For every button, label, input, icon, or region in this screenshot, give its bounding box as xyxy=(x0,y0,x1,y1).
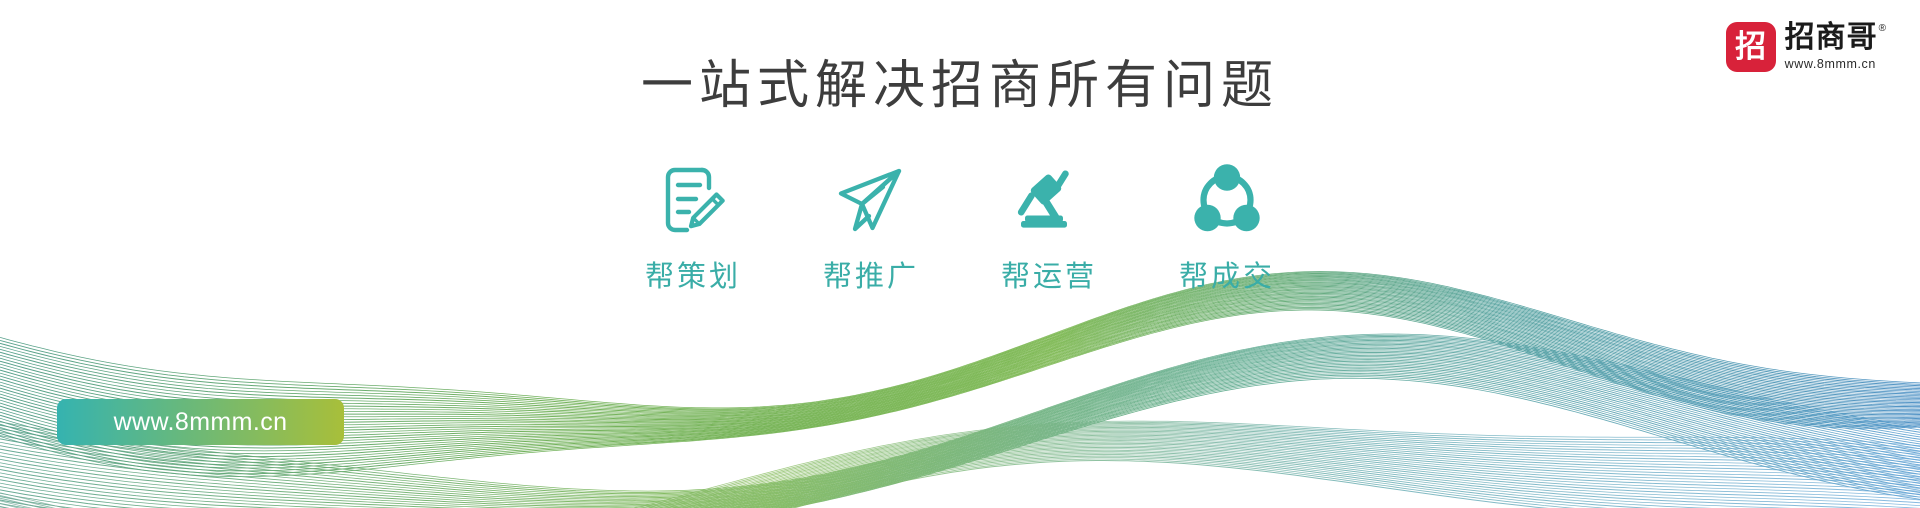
registered-trademark-icon: ® xyxy=(1879,24,1886,34)
feature-item-operations[interactable]: 帮运营 xyxy=(960,160,1138,291)
headline-block: 一站式解决招商所有问题 xyxy=(0,58,1920,115)
logo-wordmark-row: 招商哥 ® xyxy=(1785,23,1886,53)
gavel-icon xyxy=(1009,160,1089,240)
feature-item-planning[interactable]: 帮策划 xyxy=(604,160,782,291)
paper-plane-icon xyxy=(831,160,911,240)
logo-url-text: www.8mmm.cn xyxy=(1785,58,1886,71)
page-title: 一站式解决招商所有问题 xyxy=(641,58,1279,115)
feature-item-promotion[interactable]: 帮推广 xyxy=(782,160,960,291)
network-nodes-icon xyxy=(1188,160,1266,240)
logo-mark-icon: 招 xyxy=(1726,22,1776,72)
brand-logo[interactable]: 招 招商哥 ® www.8mmm.cn xyxy=(1726,22,1886,72)
wave-band-upper xyxy=(0,272,1920,477)
logo-wordmark: 招商哥 xyxy=(1785,23,1878,53)
logo-text-block: 招商哥 ® www.8mmm.cn xyxy=(1785,22,1886,71)
document-pencil-icon xyxy=(654,160,732,240)
feature-label-promotion: 帮推广 xyxy=(823,262,919,291)
feature-label-closing: 帮成交 xyxy=(1179,262,1275,291)
feature-item-closing[interactable]: 帮成交 xyxy=(1138,160,1316,291)
feature-row: 帮策划 帮推广 帮运 xyxy=(0,160,1920,291)
feature-label-planning: 帮策划 xyxy=(645,262,741,291)
logo-mark-glyph: 招 xyxy=(1735,32,1766,63)
url-badge[interactable]: www.8mmm.cn xyxy=(57,399,344,445)
url-badge-text: www.8mmm.cn xyxy=(114,410,288,435)
feature-label-operations: 帮运营 xyxy=(1001,262,1097,291)
